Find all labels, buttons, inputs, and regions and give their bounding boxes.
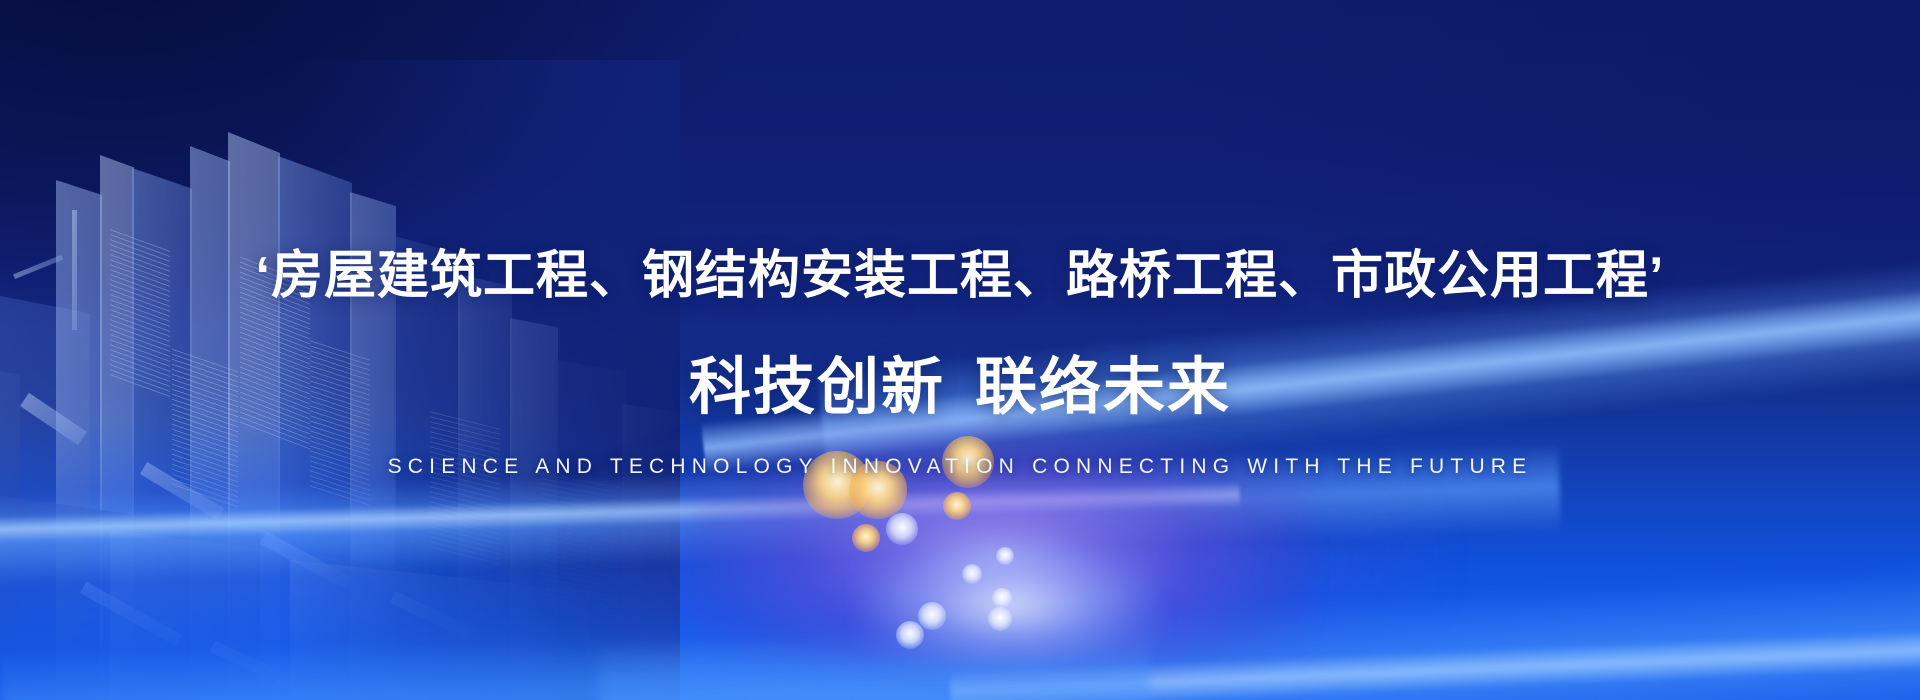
headline-secondary-right: 联络未来 [975,353,1231,422]
headline-secondary-left: 科技创新 [689,353,945,422]
headline-primary: ‘房屋建筑工程、钢结构安装工程、路桥工程、市政公用工程’ [0,244,1920,308]
subtitle-english: SCIENCE AND TECHNOLOGY INNOVATION CONNEC… [0,452,1920,482]
hero-banner: ‘房屋建筑工程、钢结构安装工程、路桥工程、市政公用工程’ 科技创新联络未来 SC… [0,0,1920,700]
white-burst-glow [860,540,1160,670]
headline-secondary: 科技创新联络未来 [0,350,1920,426]
